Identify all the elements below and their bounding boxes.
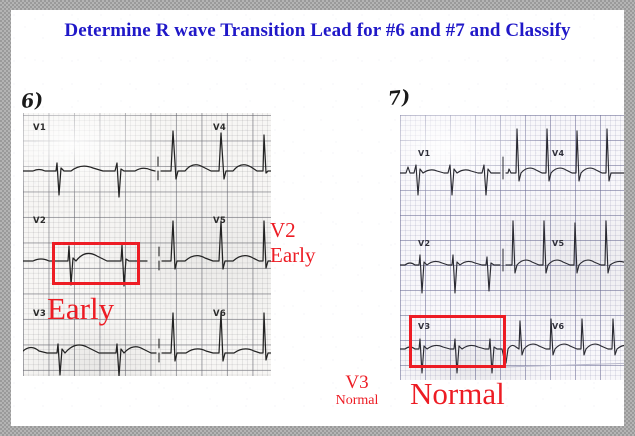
slide-canvas: Determine R wave Transition Lead for #6 …: [11, 10, 624, 426]
page-title: Determine R wave Transition Lead for #6 …: [11, 18, 624, 43]
lead-label-v4-right: V4: [552, 149, 564, 158]
annotation-v3-class: Normal: [329, 393, 385, 409]
question-marker-6: 6): [20, 89, 44, 113]
lead-label-v4-left: V4: [213, 123, 226, 133]
lead-label-v5-left: V5: [213, 216, 226, 226]
highlight-box-v2: [52, 242, 140, 285]
lead-label-v6-right: V6: [552, 322, 564, 331]
highlight-box-v3: [409, 315, 506, 368]
question-marker-7: 7): [387, 86, 411, 110]
lead-label-v2-right: V2: [418, 239, 430, 248]
slide-frame: Determine R wave Transition Lead for #6 …: [0, 0, 635, 436]
lead-label-v2-left: V2: [33, 216, 46, 226]
annotation-normal-large: Normal: [410, 378, 505, 409]
annotation-v3-normal: V3 Normal: [329, 373, 385, 409]
lead-label-v1-right: V1: [418, 149, 430, 158]
annotation-v3-lead: V3: [345, 372, 368, 393]
lead-label-v3-left: V3: [33, 309, 46, 319]
lead-label-v1-left: V1: [33, 123, 46, 133]
annotation-v2-early: V2 Early: [270, 218, 315, 268]
lead-label-v5-right: V5: [552, 239, 564, 248]
lead-label-v6-left: V6: [213, 309, 226, 319]
annotation-early-large: Early: [47, 293, 114, 324]
annotation-v2-class: Early: [270, 243, 315, 267]
annotation-v2-lead: V2: [270, 218, 296, 242]
